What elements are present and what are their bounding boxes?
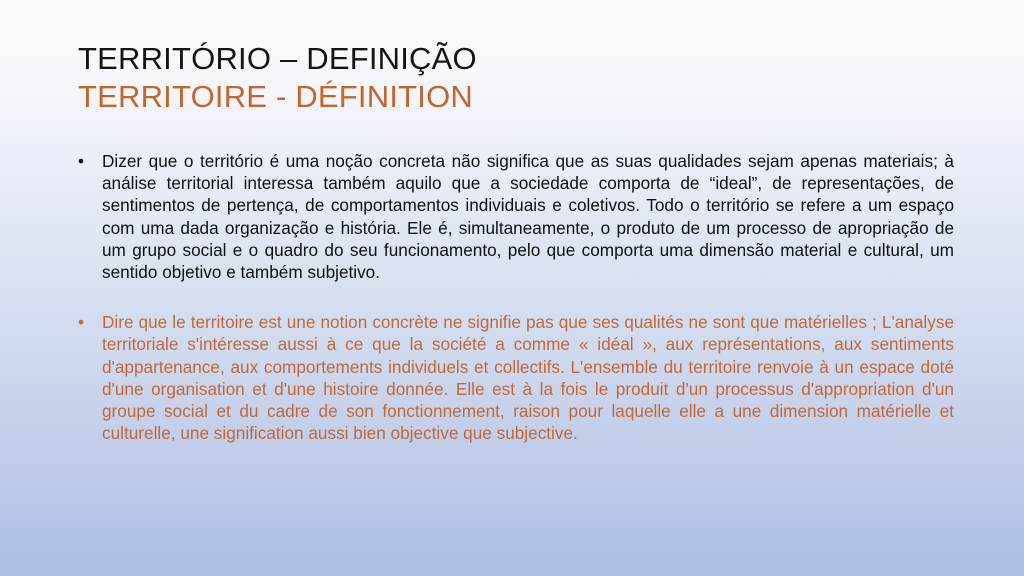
slide-body: • Dizer que o território é uma noção con… [68,150,954,444]
bullet-point-icon: • [78,311,92,333]
slide-canvas: TERRITÓRIO – DEFINIÇÃO TERRITOIRE - DÉFI… [0,0,1024,576]
paragraph-text-french: Dire que le territoire est une notion co… [102,311,954,444]
bullet-paragraph-french: • Dire que le territoire est une notion … [68,311,954,444]
bullet-paragraph-portuguese: • Dizer que o território é uma noção con… [68,150,954,283]
slide-title: TERRITÓRIO – DEFINIÇÃO TERRITOIRE - DÉFI… [78,40,958,116]
paragraph-text-portuguese: Dizer que o território é uma noção concr… [102,150,954,283]
page-title-french: TERRITOIRE - DÉFINITION [78,78,958,116]
page-title-portuguese: TERRITÓRIO – DEFINIÇÃO [78,40,958,78]
bullet-point-icon: • [78,150,92,172]
